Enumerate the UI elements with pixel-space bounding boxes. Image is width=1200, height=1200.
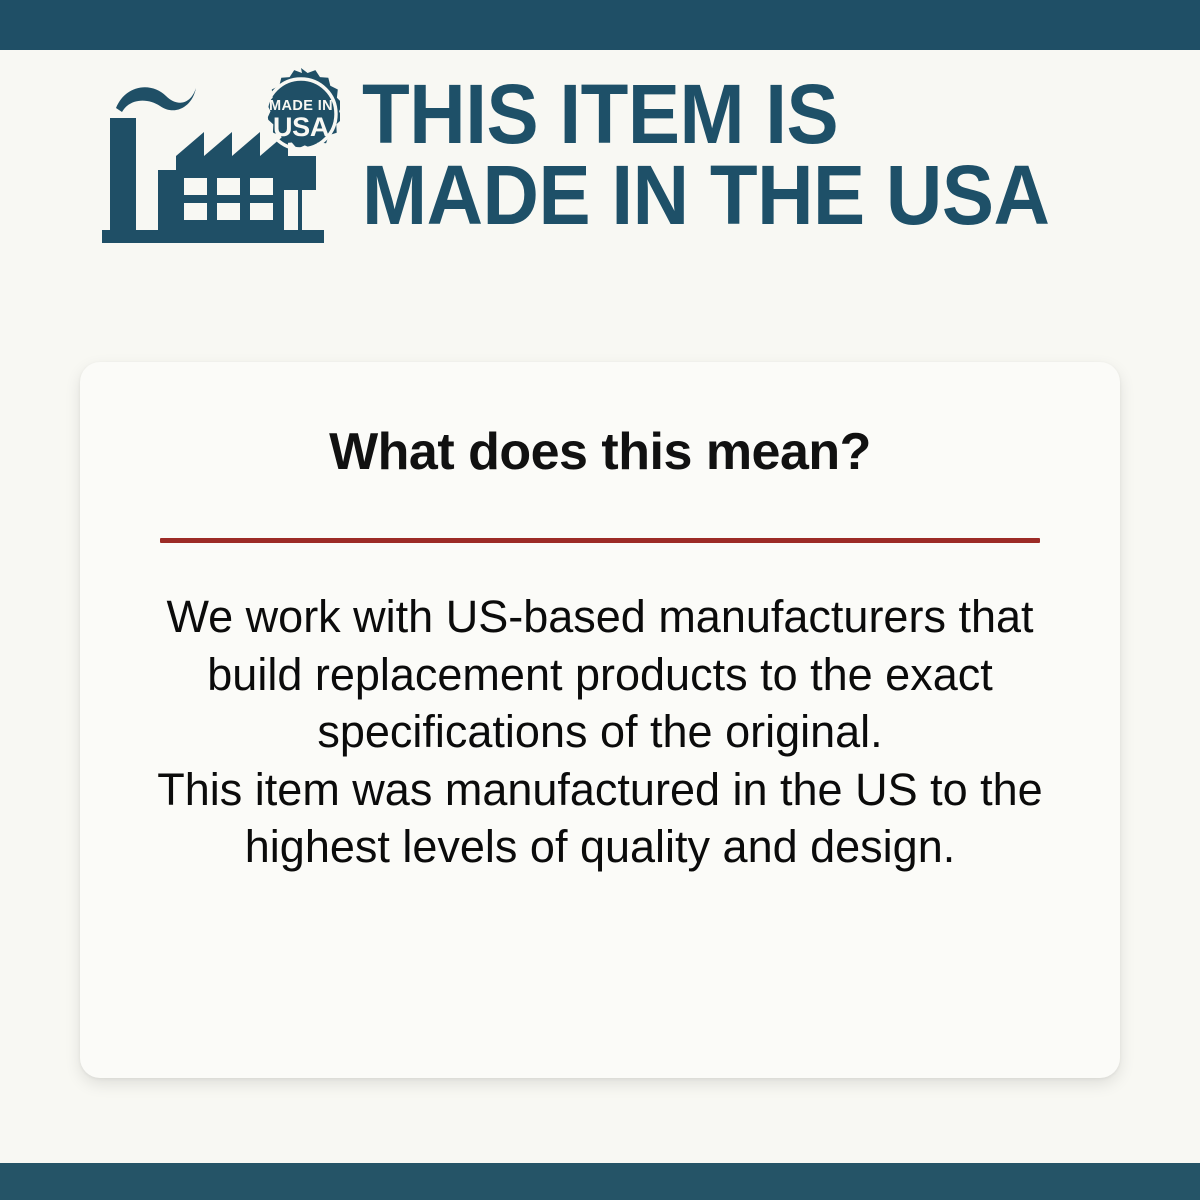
card-divider — [160, 538, 1040, 543]
card-heading: What does this mean? — [80, 422, 1120, 482]
info-card: What does this mean? We work with US-bas… — [80, 362, 1120, 1078]
card-paragraph-1: We work with US-based manufacturers that… — [140, 588, 1060, 761]
seal-line-2: USA — [273, 112, 329, 142]
smoke-icon — [116, 87, 196, 112]
page-title: THIS ITEM IS MADE IN THE USA — [362, 74, 1049, 235]
card-body: We work with US-based manufacturers that… — [140, 588, 1060, 876]
page-title-line-2: MADE IN THE USA — [362, 155, 1049, 236]
bottom-brand-band — [0, 1163, 1200, 1200]
made-in-usa-seal-icon: MADE IN USA — [266, 68, 340, 149]
chimney-icon — [110, 118, 136, 230]
header: MADE IN USA THIS ITEM IS MADE IN THE USA — [0, 52, 1200, 252]
page-title-line-1: THIS ITEM IS — [362, 74, 1049, 155]
card-paragraph-2: This item was manufactured in the US to … — [140, 761, 1060, 876]
top-brand-band — [0, 0, 1200, 50]
factory-logo: MADE IN USA — [100, 60, 340, 245]
factory-base-icon — [102, 230, 324, 243]
